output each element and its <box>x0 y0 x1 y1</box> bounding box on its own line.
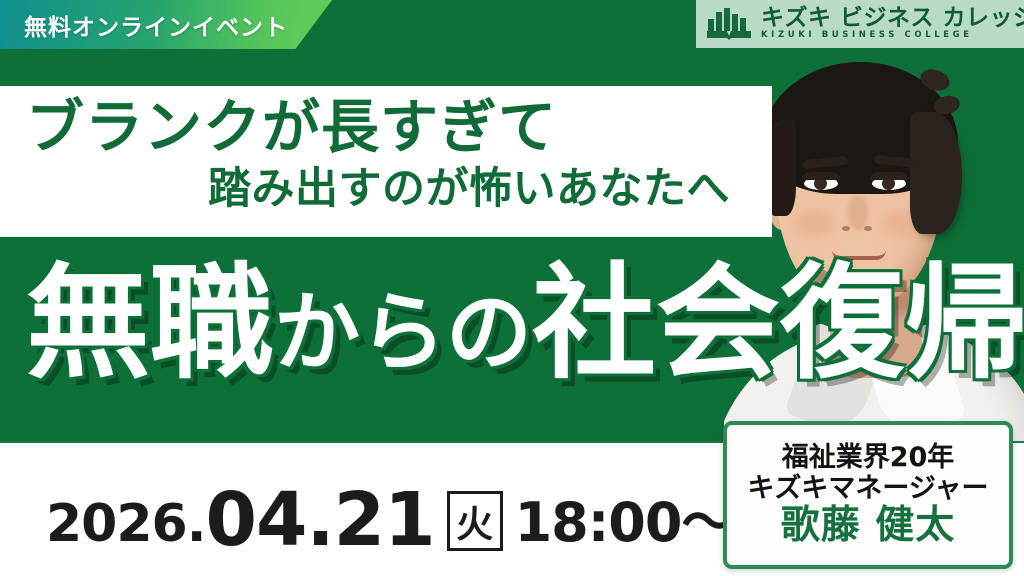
speaker-role-line2: キズキマネージャー <box>747 474 988 503</box>
date-month-day: 04.21 <box>205 477 434 563</box>
speaker-name: 歌藤 健太 <box>781 506 956 547</box>
headline-part-mushoku: 無職 <box>26 262 274 386</box>
kizuki-logo[interactable]: キズキ ビジネス カレッジ KIZUKI BUSINESS COLLEGE <box>696 0 1024 48</box>
event-banner: 無料オンラインイベント キズキ ビジネス カレッジ KIZUKI BUSINES… <box>0 0 1024 576</box>
book-bars-logo-icon <box>706 7 752 41</box>
speaker-card: 福祉業界20年 キズキマネージャー 歌藤 健太 <box>723 421 1013 569</box>
subheadline-line2: 踏み出すのが怖いあなたへ <box>208 168 730 211</box>
free-online-event-ribbon: 無料オンラインイベント <box>0 0 332 49</box>
portrait-nostril-right <box>864 226 872 231</box>
ribbon-label: 無料オンラインイベント <box>24 8 288 42</box>
main-headline: 無職 からの 社会復帰 <box>26 262 1024 402</box>
portrait-nostril-left <box>842 226 850 231</box>
subheadline-box: ブランクが長すぎて 踏み出すのが怖いあなたへ <box>0 86 772 237</box>
date-weekday-badge: 火 <box>447 491 503 551</box>
portrait-eyelid-right <box>870 172 908 180</box>
portrait-hair-right <box>910 112 962 234</box>
headline-part-karano: からの <box>274 290 532 376</box>
logo-text-block: キズキ ビジネス カレッジ KIZUKI BUSINESS COLLEGE <box>761 6 1024 42</box>
headline-part-shakaifukki: 社会復帰 <box>532 262 1024 386</box>
date-year: 2026. <box>46 494 205 554</box>
portrait-nose <box>848 196 868 230</box>
subheadline-line1: ブランクが長すぎて <box>26 98 557 156</box>
portrait-cheek-left <box>794 210 834 236</box>
portrait-eyelid-left <box>802 172 840 180</box>
logo-english-name: KIZUKI BUSINESS COLLEGE <box>761 30 1024 42</box>
speaker-role-line1: 福祉業界20年 <box>782 443 955 472</box>
logo-japanese-name: キズキ ビジネス カレッジ <box>761 6 1024 30</box>
